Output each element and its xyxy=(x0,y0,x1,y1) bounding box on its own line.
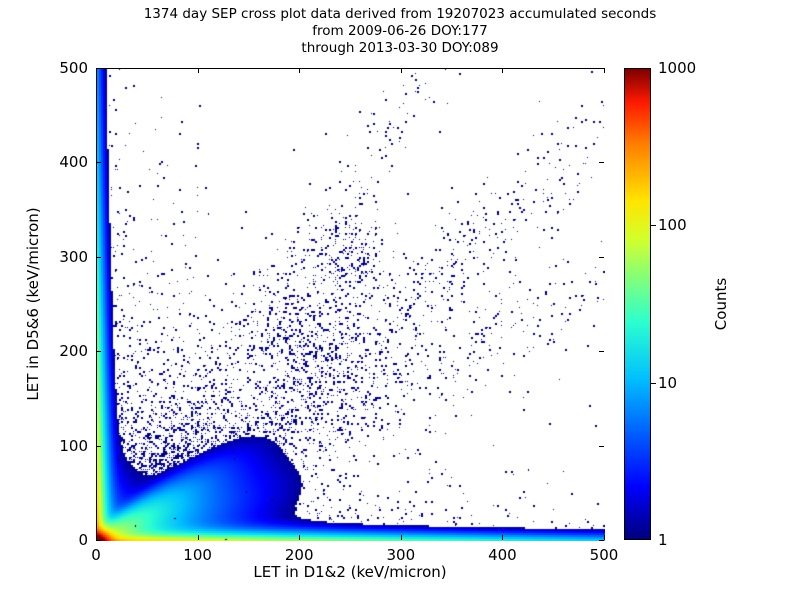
plot-title-line-1: 1374 day SEP cross plot data derived fro… xyxy=(0,6,800,23)
y-tick-label: 300 xyxy=(0,248,88,266)
x-tick-mark xyxy=(502,535,503,540)
plot-title: 1374 day SEP cross plot data derived fro… xyxy=(0,6,800,57)
y-tick-mark-right xyxy=(599,257,604,258)
colorbar-gradient xyxy=(624,68,651,540)
y-tick-mark xyxy=(96,257,101,258)
figure-canvas: 1374 day SEP cross plot data derived fro… xyxy=(0,0,800,600)
y-tick-label: 0 xyxy=(0,531,88,549)
x-tick-label: 300 xyxy=(386,546,415,564)
y-tick-label: 200 xyxy=(0,342,88,360)
x-tick-mark xyxy=(604,535,605,540)
x-tick-label: 500 xyxy=(590,546,619,564)
x-tick-mark-top xyxy=(401,68,402,73)
y-tick-label: 400 xyxy=(0,153,88,171)
x-tick-mark xyxy=(198,535,199,540)
x-tick-mark-top xyxy=(299,68,300,73)
colorbar-tick-label: 100 xyxy=(658,216,687,234)
colorbar xyxy=(624,68,651,540)
x-tick-label: 0 xyxy=(91,546,101,564)
y-tick-mark-right xyxy=(599,162,604,163)
y-tick-mark xyxy=(96,351,101,352)
x-tick-mark-top xyxy=(198,68,199,73)
y-tick-mark xyxy=(96,68,101,69)
density-heatmap xyxy=(97,69,605,541)
y-tick-label: 500 xyxy=(0,59,88,77)
y-tick-mark-right xyxy=(599,351,604,352)
x-tick-mark xyxy=(299,535,300,540)
y-tick-mark-right xyxy=(599,68,604,69)
colorbar-label: Counts xyxy=(712,68,730,540)
y-tick-mark-right xyxy=(599,540,604,541)
colorbar-tick-label: 10 xyxy=(658,374,677,392)
x-tick-mark xyxy=(401,535,402,540)
y-tick-mark xyxy=(96,540,101,541)
y-axis-label: LET in D5&6 (keV/micron) xyxy=(24,68,42,540)
x-tick-mark-top xyxy=(502,68,503,73)
x-tick-label: 400 xyxy=(488,546,517,564)
colorbar-tick-label: 1 xyxy=(658,531,668,549)
y-tick-mark xyxy=(96,162,101,163)
x-tick-label: 200 xyxy=(285,546,314,564)
y-tick-mark-right xyxy=(599,446,604,447)
colorbar-tick-mark xyxy=(651,383,656,384)
plot-title-line-3: through 2013-03-30 DOY:089 xyxy=(0,40,800,57)
plot-axes xyxy=(96,68,604,540)
plot-title-line-2: from 2009-06-26 DOY:177 xyxy=(0,23,800,40)
x-tick-mark-top xyxy=(604,68,605,73)
y-tick-label: 100 xyxy=(0,437,88,455)
x-tick-label: 100 xyxy=(183,546,212,564)
colorbar-tick-mark xyxy=(651,225,656,226)
y-tick-mark xyxy=(96,446,101,447)
colorbar-tick-label: 1000 xyxy=(658,59,696,77)
x-axis-label: LET in D1&2 (keV/micron) xyxy=(96,563,604,581)
